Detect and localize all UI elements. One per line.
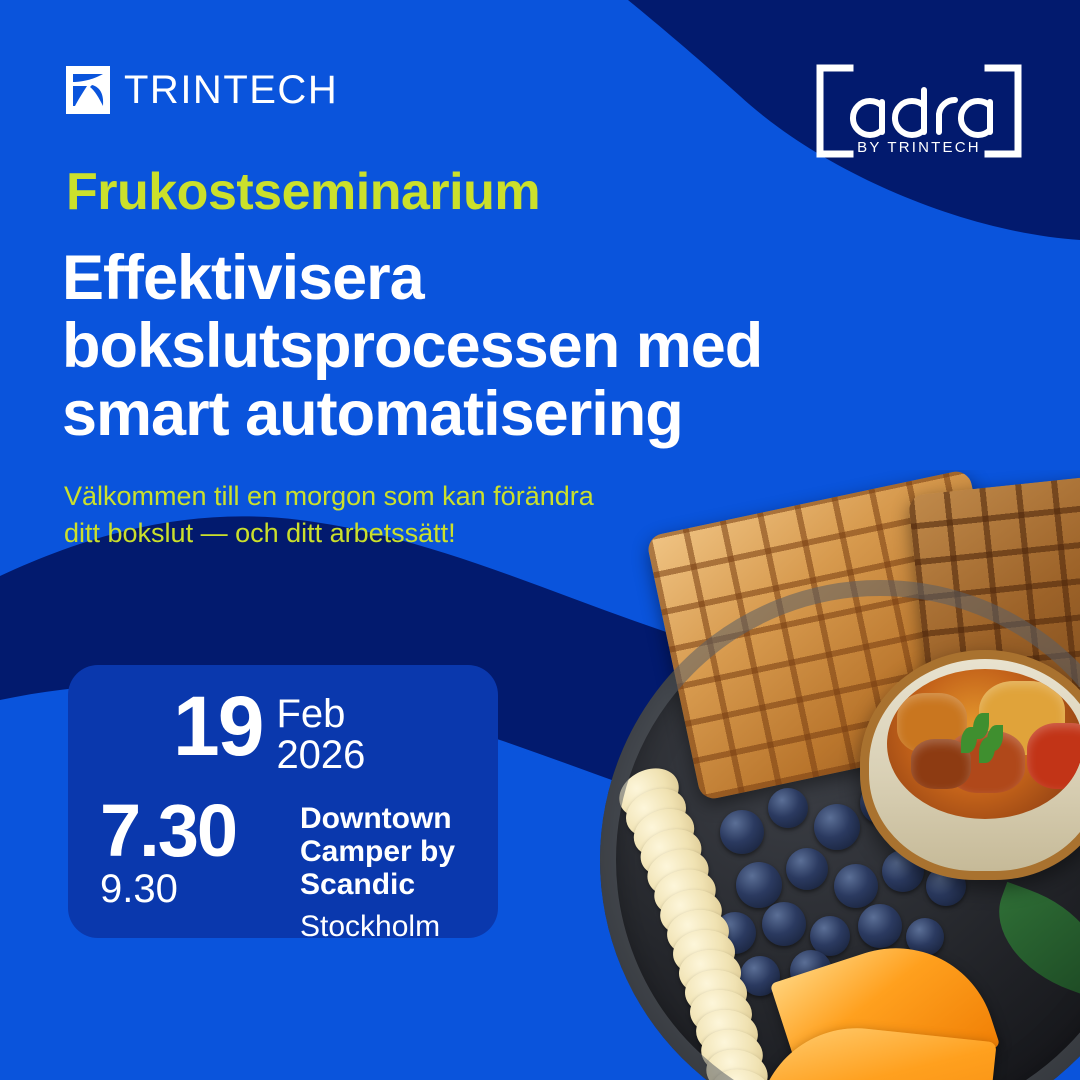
breakfast-photo	[560, 470, 1080, 1080]
trintech-logo: TRINTECH	[66, 66, 338, 114]
venue-line-3: Scandic	[300, 868, 455, 901]
adra-logo-icon: BY TRINTECH	[806, 56, 1032, 166]
subtitle-line-2: ditt bokslut — och ditt arbetssätt!	[64, 515, 664, 552]
subtitle-line-1: Välkommen till en morgon som kan förändr…	[64, 478, 664, 515]
venue-line-2: Camper by	[300, 835, 455, 868]
headline-line-2: bokslutsprocessen med	[62, 312, 902, 380]
page-title: Effektivisera bokslutsprocessen med smar…	[62, 244, 902, 448]
event-details-content: 19 Feb 2026 7.30 9.30 Downtown Camper by…	[68, 665, 498, 938]
event-date: 19 Feb 2026	[173, 690, 365, 776]
eyebrow-label: Frukostseminarium	[66, 166, 540, 218]
trintech-wordmark: TRINTECH	[124, 70, 338, 110]
event-time: 7.30 9.30	[100, 798, 280, 911]
event-time-venue: 7.30 9.30 Downtown Camper by Scandic Sto…	[100, 798, 455, 945]
subtitle: Välkommen till en morgon som kan förändr…	[64, 478, 664, 553]
adra-tagline: BY TRINTECH	[857, 139, 981, 156]
event-time-start: 7.30	[100, 798, 280, 865]
adra-logo: BY TRINTECH	[806, 56, 1032, 166]
event-venue: Downtown Camper by Scandic Stockholm	[300, 798, 455, 945]
event-month-year: Feb 2026	[276, 690, 365, 776]
venue-line-1: Downtown	[300, 802, 455, 835]
venue-city: Stockholm	[300, 909, 455, 945]
event-poster: TRINTECH BY TRINTECH Frukostseminarium	[0, 0, 1080, 1080]
event-year: 2026	[276, 735, 365, 776]
event-day: 19	[173, 690, 262, 764]
venue-name: Downtown Camper by Scandic	[300, 802, 455, 901]
event-time-end: 9.30	[100, 867, 280, 911]
headline-line-3: smart automatisering	[62, 380, 902, 448]
trintech-logo-mark-icon	[66, 66, 110, 114]
headline-line-1: Effektivisera	[62, 244, 902, 312]
event-month: Feb	[276, 694, 365, 735]
